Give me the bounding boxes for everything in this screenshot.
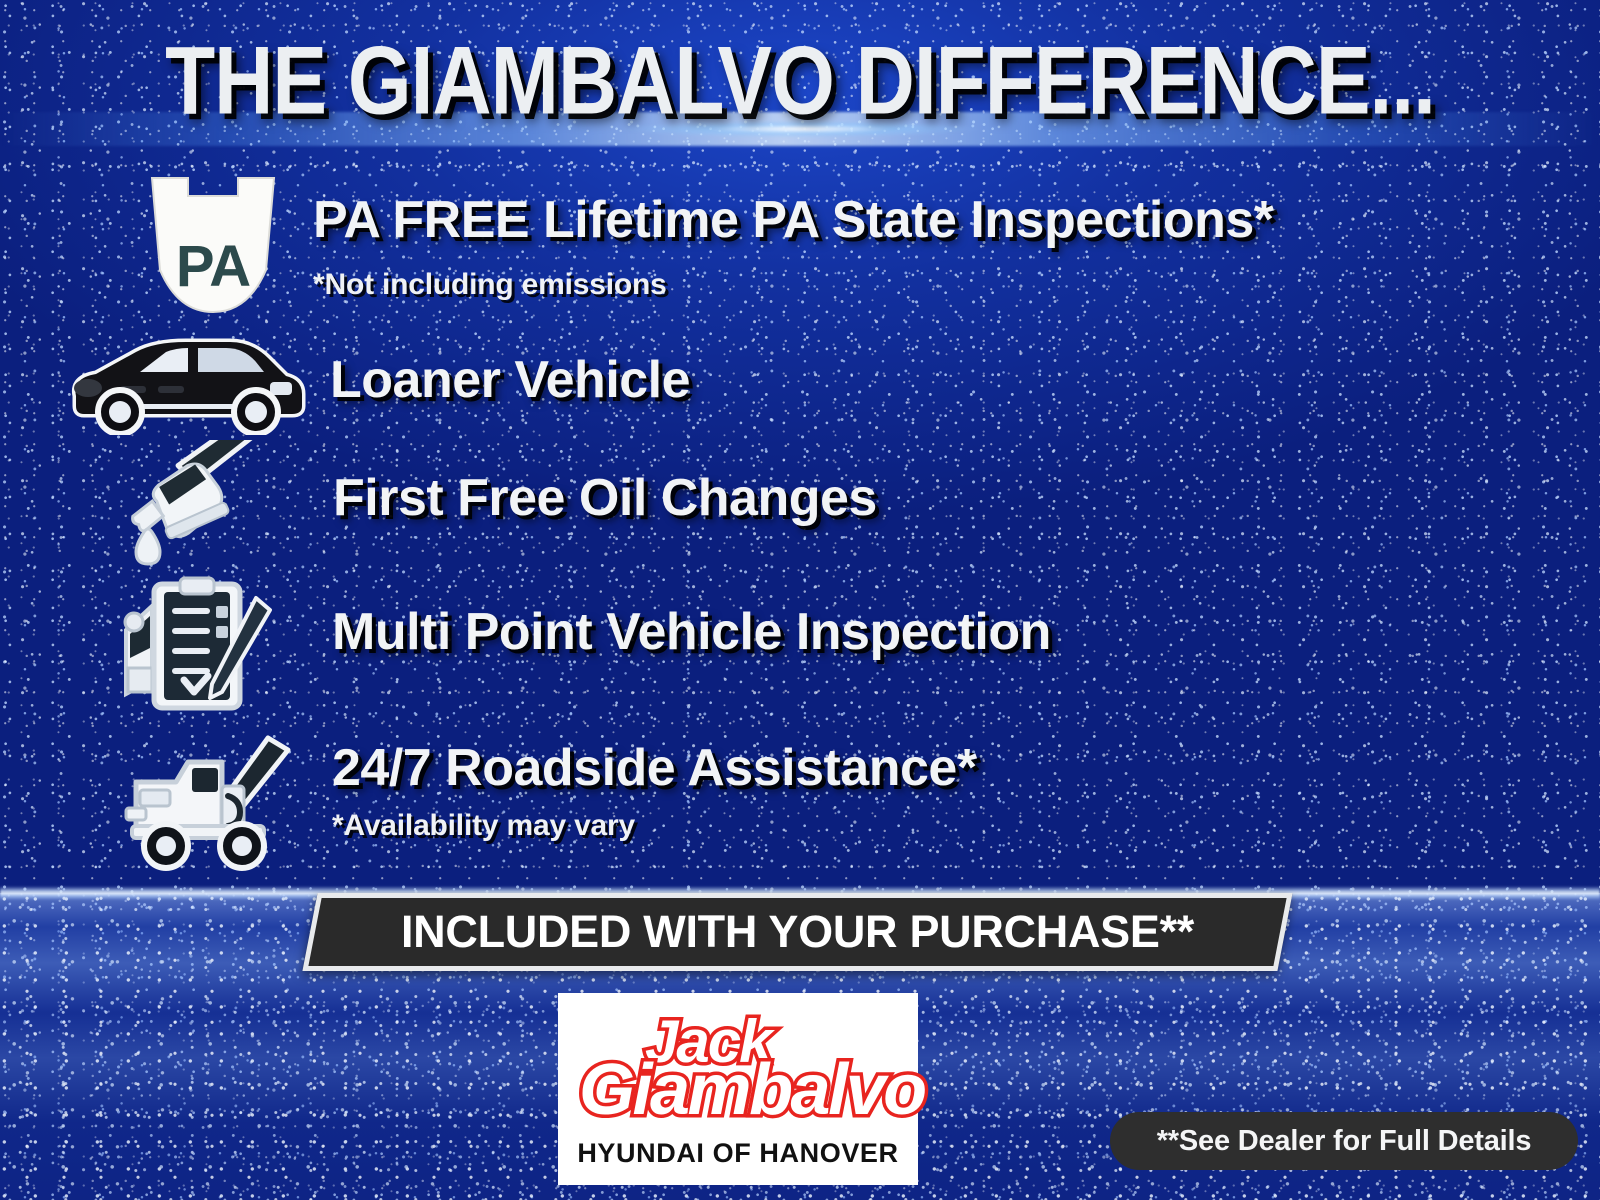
disclaimer-badge: **See Dealer for Full Details <box>1110 1112 1578 1170</box>
oil-can-icon <box>100 440 300 570</box>
dealer-logo-mark: Jack Giambalvo <box>573 1010 903 1136</box>
dealer-logo-subtitle: HYUNDAI OF HANOVER <box>577 1138 898 1169</box>
dealer-logo: Jack Giambalvo HYUNDAI OF HANOVER <box>558 993 918 1185</box>
feature-note-availability: *Availability may vary <box>332 809 635 843</box>
disclaimer-text: **See Dealer for Full Details <box>1157 1125 1532 1158</box>
tow-truck-icon <box>118 732 318 872</box>
feature-label-multipoint: Multi Point Vehicle Inspection <box>332 602 1051 662</box>
included-banner: INCLUDED WITH YOUR PURCHASE** <box>310 893 1285 971</box>
pa-keystone-icon: PA <box>128 174 298 314</box>
feature-note-emissions: *Not including emissions <box>313 268 667 302</box>
pa-keystone-label: PA <box>128 233 298 300</box>
feature-label-roadside: 24/7 Roadside Assistance* <box>332 738 977 798</box>
included-banner-text: INCLUDED WITH YOUR PURCHASE** <box>310 893 1285 971</box>
feature-label-loaner: Loaner Vehicle <box>330 350 690 410</box>
dealer-logo-line2: Giambalvo <box>579 1054 925 1126</box>
page-title: THE GIAMBALVO DIFFERENCE... <box>0 26 1600 137</box>
feature-label-oil: First Free Oil Changes <box>333 468 877 528</box>
sedan-car-icon <box>62 330 312 435</box>
promo-graphic: THE GIAMBALVO DIFFERENCE... PA PA FREE L… <box>0 0 1600 1200</box>
feature-label-inspections: PA FREE Lifetime PA State Inspections* <box>313 190 1274 250</box>
clipboard-checklist-icon <box>118 576 288 716</box>
